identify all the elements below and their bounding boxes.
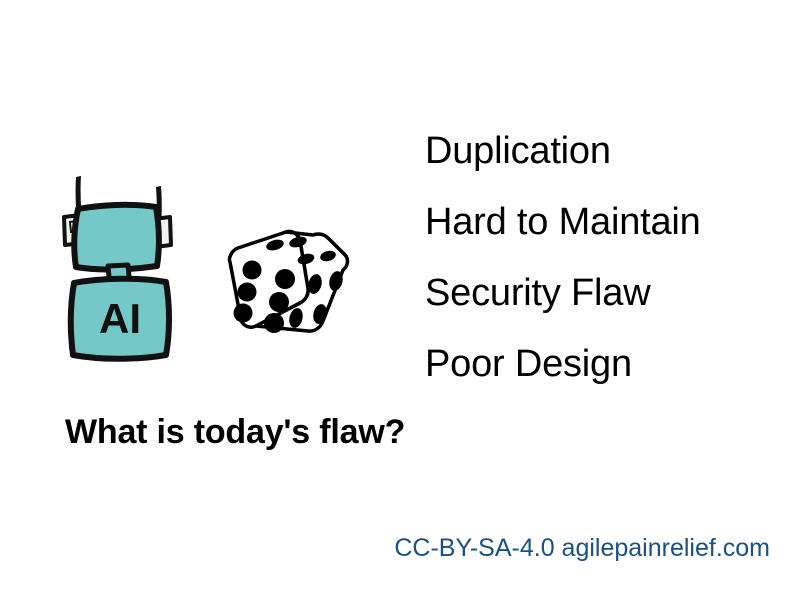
option-item-hard-to-maintain[interactable]: Hard to Maintain xyxy=(425,203,785,241)
option-item-duplication[interactable]: Duplication xyxy=(425,132,785,170)
flaw-options-list: Duplication Hard to Maintain Security Fl… xyxy=(425,132,785,383)
ai-robot-icon: AI xyxy=(58,165,198,365)
prompt-question: What is today's flaw? xyxy=(65,413,405,452)
dice-icon xyxy=(216,226,358,342)
option-item-poor-design[interactable]: Poor Design xyxy=(425,345,785,383)
option-item-security-flaw[interactable]: Security Flaw xyxy=(425,274,785,312)
slide-canvas: AI xyxy=(0,0,800,600)
robot-body-label: AI xyxy=(99,295,141,342)
license-attribution: CC-BY-SA-4.0 agilepainrelief.com xyxy=(394,534,770,563)
